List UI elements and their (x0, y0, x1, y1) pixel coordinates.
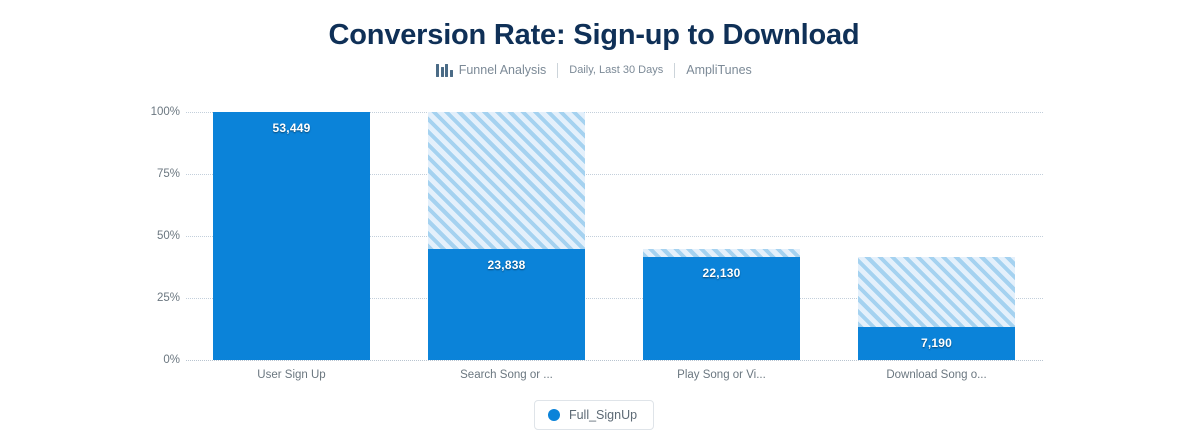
xtick-label: User Sign Up (182, 369, 402, 381)
bar-value-label: 23,838 (428, 258, 585, 272)
chart-subtitle: Funnel Analysis Daily, Last 30 Days Ampl… (0, 63, 1188, 78)
gridline-50 (186, 236, 1043, 237)
xtick-label: Download Song o... (827, 369, 1047, 381)
subtitle-range-label: Daily, Last 30 Days (558, 65, 674, 76)
bar-group[interactable]: 23,838 (428, 112, 585, 360)
bar-value-label: 22,130 (643, 266, 800, 280)
bar-segment-converted[interactable] (858, 327, 1015, 360)
bar-value-label: 7,190 (858, 336, 1015, 350)
ytick-label-75: 75% (120, 168, 180, 180)
funnel-bars-icon (436, 63, 453, 77)
legend-item-full-signup[interactable]: Full_SignUp (534, 400, 654, 430)
bar-segment-converted[interactable] (428, 249, 585, 360)
gridline-75 (186, 174, 1043, 175)
bar-segment-dropoff[interactable] (643, 249, 800, 257)
ytick-label-100: 100% (120, 106, 180, 118)
bar-value-label: 53,449 (213, 121, 370, 135)
gridline-100 (186, 112, 1043, 113)
page-title: Conversion Rate: Sign-up to Download (0, 20, 1188, 52)
ytick-label-50: 50% (120, 230, 180, 242)
bar-group[interactable]: 22,130 (643, 112, 800, 360)
gridline-baseline (186, 360, 1043, 361)
chart-legend: Full_SignUp (0, 400, 1188, 430)
bar-segment-converted[interactable] (213, 112, 370, 360)
bar-group[interactable]: 53,449 (213, 112, 370, 360)
subtitle-analysis-segment: Funnel Analysis (425, 63, 557, 77)
legend-color-dot-icon (548, 409, 560, 421)
subtitle-project-label: AmpliTunes (675, 64, 763, 77)
bar-segment-dropoff[interactable] (428, 112, 585, 249)
subtitle-analysis-label: Funnel Analysis (459, 64, 547, 77)
bar-segment-dropoff[interactable] (858, 257, 1015, 326)
bar-segment-converted[interactable] (643, 257, 800, 360)
legend-series-label: Full_SignUp (569, 408, 637, 422)
xtick-label: Play Song or Vi... (612, 369, 832, 381)
ytick-label-25: 25% (120, 292, 180, 304)
gridline-25 (186, 298, 1043, 299)
xtick-label: Search Song or ... (397, 369, 617, 381)
bar-group[interactable]: 7,190 (858, 112, 1015, 360)
chart-header: Conversion Rate: Sign-up to Download Fun… (0, 0, 1188, 78)
ytick-label-0: 0% (120, 354, 180, 366)
